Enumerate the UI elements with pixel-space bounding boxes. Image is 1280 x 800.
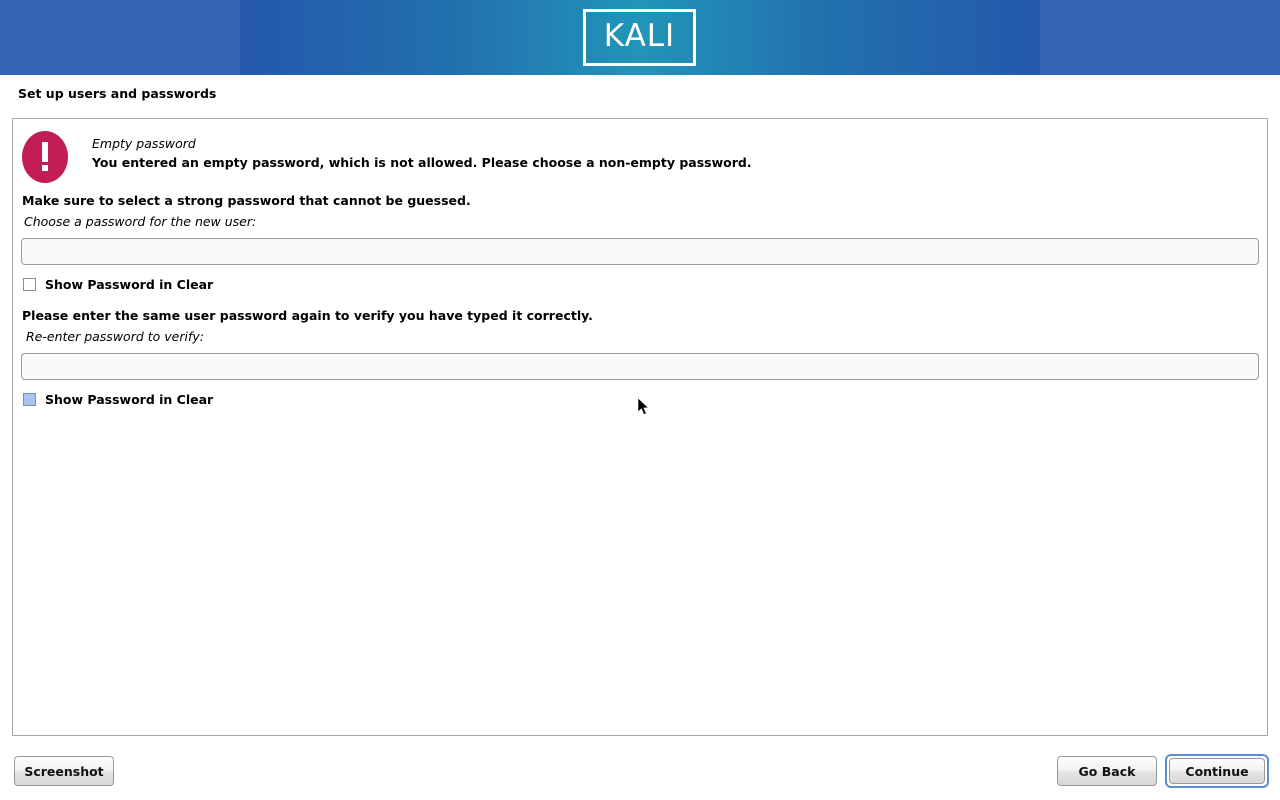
go-back-button[interactable]: Go Back bbox=[1057, 756, 1157, 786]
continue-button[interactable]: Continue bbox=[1169, 758, 1265, 784]
alert-message: You entered an empty password, which is … bbox=[92, 155, 752, 170]
exclamation-dot bbox=[42, 165, 48, 171]
exclamation-bar bbox=[42, 142, 48, 162]
verify-password-input[interactable] bbox=[21, 353, 1259, 380]
show-password-checkbox-row-2[interactable]: Show Password in Clear bbox=[23, 392, 213, 407]
kali-logo: KALI bbox=[583, 9, 696, 66]
show-password-checkbox-1[interactable] bbox=[23, 278, 36, 291]
screenshot-button[interactable]: Screenshot bbox=[14, 756, 114, 786]
installer-header-banner: KALI bbox=[0, 0, 1280, 75]
verify-section-heading: Please enter the same user password agai… bbox=[22, 308, 593, 323]
show-password-checkbox-2[interactable] bbox=[23, 393, 36, 406]
password-input[interactable] bbox=[21, 238, 1259, 265]
page-title: Set up users and passwords bbox=[18, 86, 216, 101]
show-password-checkbox-row-1[interactable]: Show Password in Clear bbox=[23, 277, 213, 292]
kali-logo-text: KALI bbox=[583, 9, 696, 66]
error-exclamation-icon bbox=[22, 131, 68, 183]
password-section-heading: Make sure to select a strong password th… bbox=[22, 193, 471, 208]
show-password-checkbox-label-1[interactable]: Show Password in Clear bbox=[45, 277, 213, 292]
password-field-label: Choose a password for the new user: bbox=[24, 214, 256, 229]
content-panel: Empty password You entered an empty pass… bbox=[12, 118, 1268, 736]
verify-field-label: Re-enter password to verify: bbox=[26, 329, 204, 344]
show-password-checkbox-label-2[interactable]: Show Password in Clear bbox=[45, 392, 213, 407]
alert-title: Empty password bbox=[92, 136, 196, 151]
